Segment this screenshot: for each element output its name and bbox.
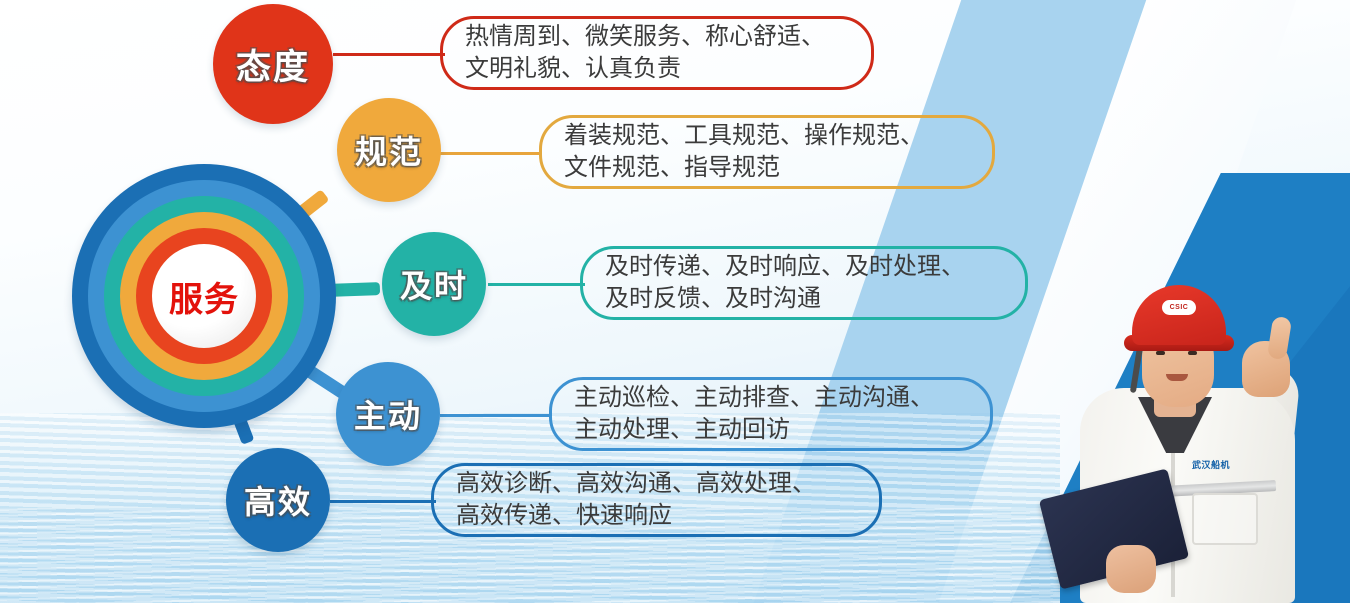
node-proactive[interactable]: 主动 [336, 362, 440, 466]
connector-standard [437, 152, 542, 155]
service-ring-diagram: 服务 [72, 164, 336, 428]
node-timely-label: 及时 [400, 261, 468, 307]
worker-photo: 武汉船机 CSIC [1042, 183, 1342, 603]
detail-box-timely: 及时传递、及时响应、及时处理、 及时反馈、及时沟通 [580, 246, 1028, 320]
detail-text-attitude: 热情周到、微笑服务、称心舒适、 文明礼貌、认真负责 [465, 21, 825, 84]
detail-box-attitude: 热情周到、微笑服务、称心舒适、 文明礼貌、认真负责 [440, 16, 874, 90]
detail-text-timely: 及时传递、及时响应、及时处理、 及时反馈、及时沟通 [605, 251, 965, 314]
node-attitude[interactable]: 态度 [213, 4, 333, 124]
worker-mouth [1166, 374, 1188, 381]
worker-uniform-logo: 武汉船机 [1192, 458, 1230, 471]
detail-text-proactive: 主动巡检、主动排查、主动沟通、 主动处理、主动回访 [574, 382, 934, 445]
worker-eye-left [1156, 351, 1165, 355]
detail-box-standard: 着装规范、工具规范、操作规范、 文件规范、指导规范 [539, 115, 995, 189]
node-timely[interactable]: 及时 [382, 232, 486, 336]
detail-box-efficient: 高效诊断、高效沟通、高效处理、 高效传递、快速响应 [431, 463, 882, 537]
connector-attitude [333, 53, 445, 56]
connector-efficient [330, 500, 436, 503]
worker-eye-right [1188, 351, 1197, 355]
node-standard-label: 规范 [355, 127, 423, 173]
center-core: 服务 [152, 244, 256, 348]
worker-pocket [1192, 493, 1258, 545]
node-efficient[interactable]: 高效 [226, 448, 330, 552]
worker-helmet [1132, 285, 1226, 345]
node-efficient-label: 高效 [244, 477, 312, 523]
infographic-canvas: 服务 态度 规范 及时 主动 高效 热情周到、微笑服务、称心舒适、 文明礼貌、认… [0, 0, 1350, 603]
node-attitude-label: 态度 [236, 39, 310, 90]
connector-timely [488, 283, 585, 286]
worker-hand-holding [1106, 545, 1156, 593]
node-standard[interactable]: 规范 [337, 98, 441, 202]
worker-helmet-badge: CSIC [1162, 300, 1196, 315]
detail-box-proactive: 主动巡检、主动排查、主动沟通、 主动处理、主动回访 [549, 377, 993, 451]
center-label: 服务 [169, 272, 239, 321]
worker-thumb [1267, 316, 1292, 360]
connector-proactive [440, 414, 552, 417]
detail-text-efficient: 高效诊断、高效沟通、高效处理、 高效传递、快速响应 [456, 468, 816, 531]
node-proactive-label: 主动 [354, 391, 422, 437]
detail-text-standard: 着装规范、工具规范、操作规范、 文件规范、指导规范 [564, 120, 924, 183]
